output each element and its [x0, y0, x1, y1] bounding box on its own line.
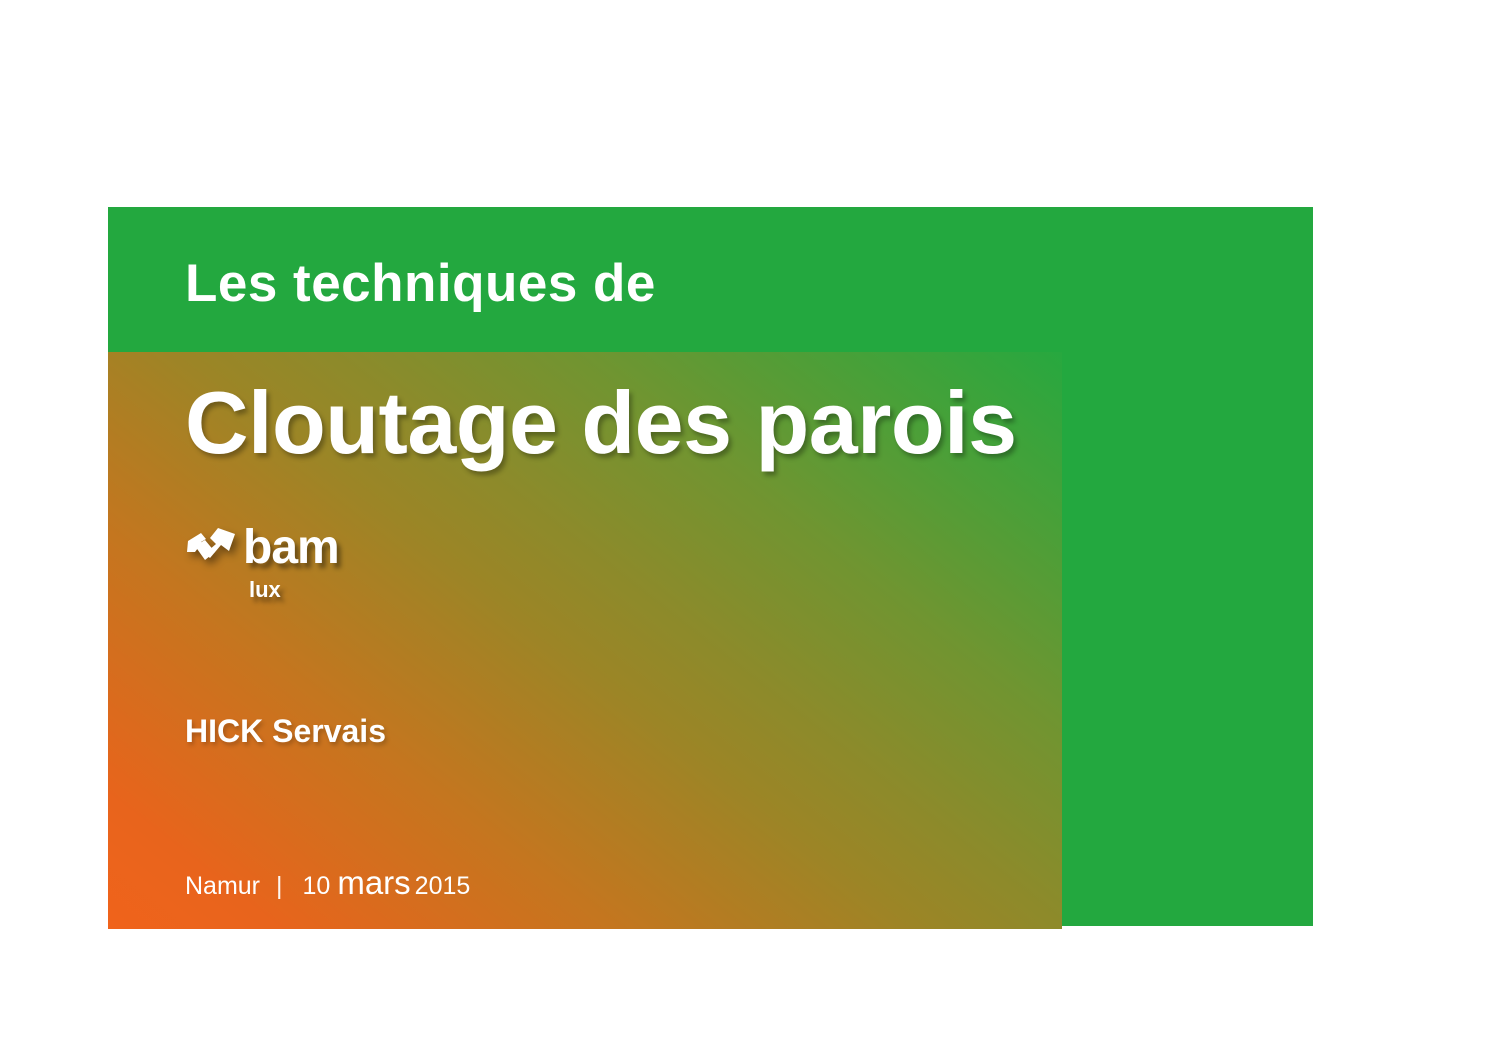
logo-wordmark: bam: [243, 524, 339, 572]
logo-subtext: lux: [249, 578, 281, 602]
bam-arrow-icon: [185, 524, 239, 572]
footer-place: Namur: [185, 872, 260, 900]
slide-footer: Namur | 10 mars 2015: [185, 869, 470, 900]
bam-lux-logo: bam lux: [185, 520, 395, 610]
footer-separator: |: [276, 872, 283, 900]
page-canvas: Les techniques de Cloutage des parois ba…: [0, 0, 1497, 1058]
author-name: HICK Servais: [185, 713, 386, 749]
title-slide: Les techniques de Cloutage des parois ba…: [108, 207, 1313, 926]
footer-date-month: mars: [337, 869, 410, 897]
footer-date-year: 2015: [415, 872, 471, 900]
logo-row: bam: [185, 520, 395, 576]
slide-kicker: Les techniques de: [185, 255, 656, 313]
footer-date-day: 10: [303, 872, 331, 900]
slide-title: Cloutage des parois: [185, 375, 1017, 471]
